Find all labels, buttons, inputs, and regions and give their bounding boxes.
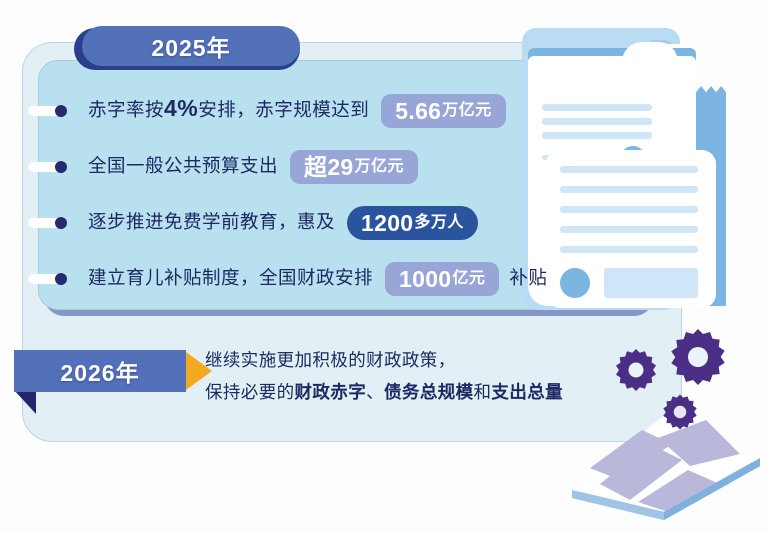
badge-number: 1000	[399, 268, 451, 291]
year-2026-label: 2026年	[60, 354, 139, 388]
item-prefix: 赤字率按	[88, 99, 164, 120]
list-item[interactable]: 赤字率按4%安排，赤字规模达到5.66万亿元	[38, 88, 516, 134]
footer-note: 继续实施更加积极的财政政策， 保持必要的财政赤字、债务总规模和支出总量	[205, 344, 645, 408]
value-badge: 1200多万人	[347, 206, 478, 240]
policy-list: 赤字率按4%安排，赤字规模达到5.66万亿元 全国一般公共预算支出超29万亿元 …	[38, 60, 648, 310]
list-item-text: 赤字率按4%安排，赤字规模达到5.66万亿元	[88, 94, 516, 128]
note-pre: 保持必要的	[205, 382, 295, 402]
list-item-text: 逐步推进免费学前教育，惠及1200多万人	[88, 206, 488, 240]
bullet-marker-icon	[28, 217, 76, 229]
value-badge: 5.66万亿元	[381, 94, 505, 128]
list-item-text: 全国一般公共预算支出超29万亿元	[88, 150, 428, 184]
item-prefix: 建立育儿补贴制度，全国财政安排	[88, 267, 373, 288]
footer-note-line-1: 继续实施更加积极的财政政策，	[205, 344, 645, 376]
badge-number: 1200	[361, 212, 413, 235]
bullet-marker-icon	[28, 273, 76, 285]
item-middle: 安排，赤字规模达到	[198, 99, 369, 120]
gear-medium-icon	[612, 346, 660, 394]
item-prefix: 逐步推进免费学前教育，惠及	[88, 211, 335, 232]
value-badge: 1000亿元	[385, 262, 499, 296]
badge-unit: 亿元	[452, 271, 485, 287]
badge-number: 5.66	[395, 100, 441, 123]
year-2026-badge[interactable]: 2026年	[14, 350, 186, 392]
list-item-text: 建立育儿补贴制度，全国财政安排1000亿元补贴	[88, 262, 547, 296]
badge-unit: 多万人	[414, 215, 464, 231]
value-badge: 超29万亿元	[290, 150, 418, 184]
item-emphasis: 4%	[164, 95, 198, 121]
list-item[interactable]: 建立育儿补贴制度，全国财政安排1000亿元补贴	[38, 256, 547, 302]
badge-number: 超29	[304, 156, 353, 179]
badge-unit: 万亿元	[442, 103, 492, 119]
list-item[interactable]: 全国一般公共预算支出超29万亿元	[38, 144, 428, 190]
item-suffix: 补贴	[509, 267, 547, 288]
note-sep-1: 、	[366, 382, 384, 402]
badge-unit: 万亿元	[355, 159, 405, 175]
note-mid: 和	[474, 382, 492, 402]
gear-large-icon	[666, 325, 730, 389]
footer-note-line-2: 保持必要的财政赤字、债务总规模和支出总量	[205, 376, 645, 408]
list-item[interactable]: 逐步推进免费学前教育，惠及1200多万人	[38, 200, 488, 246]
gear-small-icon	[660, 392, 700, 432]
bullet-marker-icon	[28, 161, 76, 173]
item-prefix: 全国一般公共预算支出	[88, 155, 278, 176]
bullet-marker-icon	[28, 105, 76, 117]
note-bold-1: 财政赤字	[295, 382, 367, 402]
year-2025-label: 2025年	[151, 29, 230, 63]
note-bold-3: 支出总量	[491, 382, 563, 402]
note-bold-2: 债务总规模	[384, 382, 474, 402]
infographic-canvas: 2025年 赤字率按4%安排，赤字规模达到5.66万亿元 全国一般公共预算支出超…	[0, 0, 768, 533]
